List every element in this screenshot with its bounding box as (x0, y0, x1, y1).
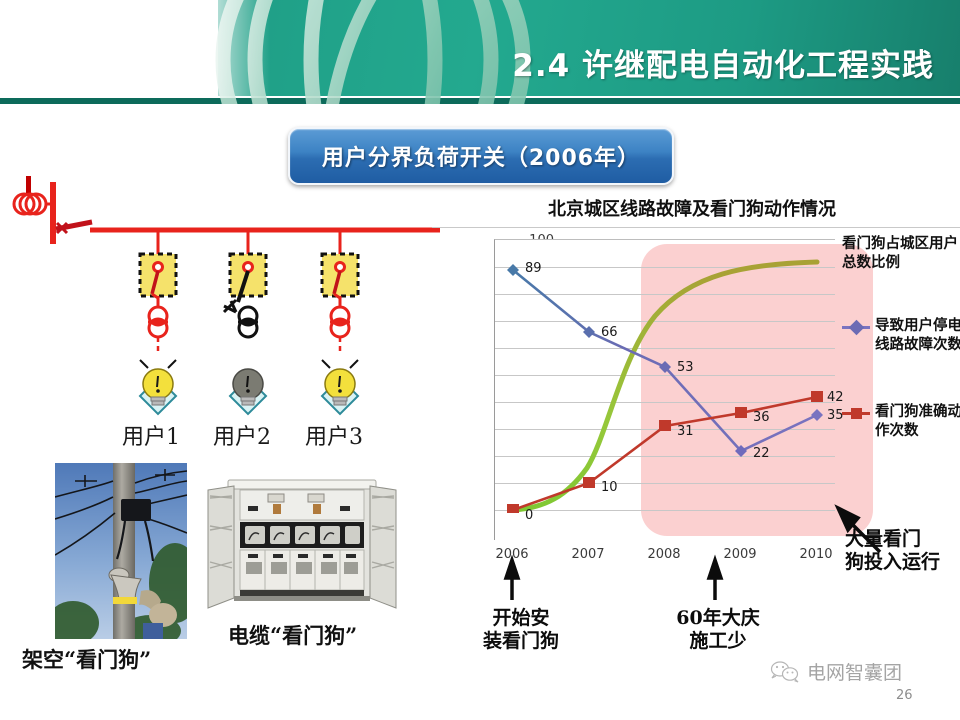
x-tick-2008: 2008 (636, 547, 692, 562)
series-svg (495, 240, 835, 540)
annotation-mass-deployment: 大量看门 狗投入运行 (845, 528, 955, 574)
legend-item-faults[interactable]: 导致用户停电线路故障次数 (842, 317, 960, 354)
data-label-ops-2006: 0 (525, 508, 533, 523)
legend-swatch-faults (842, 319, 870, 335)
watermark: 电网智囊团 (770, 658, 902, 685)
cable-watchdog-caption: 电缆“看门狗” (228, 620, 357, 650)
schematic-svg (0, 182, 440, 447)
user-label-1: 用户1 (122, 419, 180, 451)
page-number: 26 (896, 688, 913, 703)
data-label-faults-2007: 66 (601, 325, 618, 340)
lamp-off-icon-2 (230, 369, 266, 414)
watermark-text: 电网智囊团 (807, 658, 902, 685)
data-label-ops-2009: 36 (753, 410, 770, 425)
user-label-3: 用户3 (305, 419, 363, 451)
chart-title: 北京城区线路故障及看门狗动作情况 (472, 195, 912, 221)
annotation-install-start: 开始安 装看门狗 (466, 607, 576, 653)
busbar (50, 182, 56, 244)
user-switch-box-2 (224, 254, 266, 312)
section-title-button[interactable]: 用户分界负荷开关（2006年） (288, 127, 674, 185)
section-title-label: 用户分界负荷开关（2006年） (322, 140, 640, 172)
user-transformer-1 (148, 296, 168, 354)
cable-watchdog-photo (198, 468, 406, 620)
yellow-band (113, 597, 137, 604)
data-label-ops-2007: 10 (601, 480, 618, 495)
wechat-icon (770, 660, 800, 684)
source-transformer-icon (14, 194, 46, 214)
header-left-fade (190, 0, 270, 98)
x-tick-2006: 2006 (484, 547, 540, 562)
legend-label-operations: 看门狗准确动作次数 (875, 403, 960, 440)
line-chart: 北京城区线路故障及看门狗动作情况 100 90 80 70 60 50 40 3… (432, 195, 960, 575)
data-label-ops-2008: 31 (677, 424, 694, 439)
slide: 2.4 许继配电自动化工程实践 用户分界负荷开关（2006年） (0, 0, 960, 720)
lamp-on-icon-1 (140, 360, 176, 414)
user-transformer-2 (238, 307, 258, 337)
legend-item-operations[interactable]: 看门狗准确动作次数 (842, 403, 960, 440)
series-ratio-line (513, 262, 817, 510)
x-tick-2007: 2007 (560, 547, 616, 562)
page-title: 2.4 许继配电自动化工程实践 (512, 40, 934, 85)
chart-top-rule (432, 227, 960, 228)
data-label-faults-2009: 22 (753, 446, 770, 461)
user-switch-box-3 (322, 254, 358, 298)
distribution-schematic: 用户1 用户2 用户3 (0, 182, 440, 447)
lamp-on-icon-3 (322, 360, 358, 414)
plot-area: 89 66 53 22 35 0 10 31 36 42 (494, 239, 835, 540)
overhead-watchdog-caption: 架空“看门狗” (22, 644, 151, 674)
legend-label-faults: 导致用户停电线路故障次数 (875, 317, 960, 354)
user-switch-box-1 (140, 254, 176, 298)
legend-swatch-operations (842, 405, 870, 421)
legend-ratio-label: 看门狗占城区用户总数比例 (842, 235, 960, 272)
x-tick-2010: 2010 (788, 547, 844, 562)
annotation-anniversary: 60年大庆 施工少 (659, 607, 777, 653)
data-label-faults-2006: 89 (525, 261, 542, 276)
watchdog-device (121, 499, 151, 521)
series-operations-line (513, 397, 817, 510)
user-transformer-3 (330, 296, 350, 354)
x-tick-2009: 2009 (712, 547, 768, 562)
slide-header: 2.4 许继配电自动化工程实践 (0, 0, 960, 104)
data-label-faults-2008: 53 (677, 360, 694, 375)
overhead-watchdog-photo (55, 463, 187, 639)
user-label-2: 用户2 (213, 419, 271, 451)
